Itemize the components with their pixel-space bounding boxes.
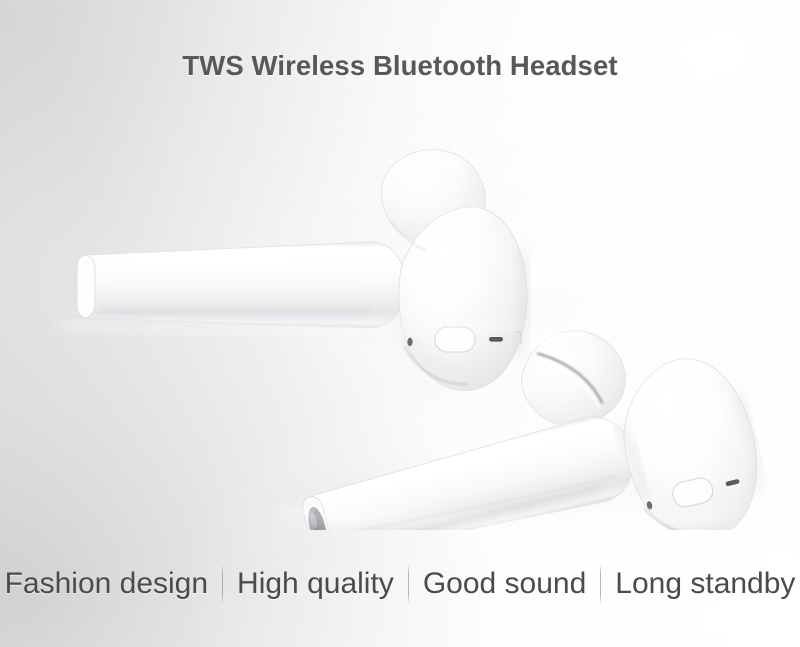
feature-list: Fashion design High quality Good sound L… (0, 560, 800, 608)
left-earbud-stem (77, 242, 404, 328)
left-earbud-status-slot (489, 337, 503, 342)
left-earbud-stem-highlight (96, 261, 364, 268)
earbuds-illustration (0, 110, 800, 530)
left-earbud-stem-tip-flat (77, 255, 95, 318)
product-banner: TWS Wireless Bluetooth Headset (0, 0, 800, 647)
product-title: TWS Wireless Bluetooth Headset (0, 50, 800, 82)
left-earbud-mic-hole (407, 338, 412, 346)
left-earbud (77, 150, 527, 391)
feature-item-4: Long standby (601, 569, 800, 599)
feature-item-1: Fashion design (0, 569, 222, 599)
feature-item-3: Good sound (409, 569, 600, 599)
feature-item-2: High quality (223, 569, 408, 599)
right-earbud-stem (298, 410, 641, 530)
